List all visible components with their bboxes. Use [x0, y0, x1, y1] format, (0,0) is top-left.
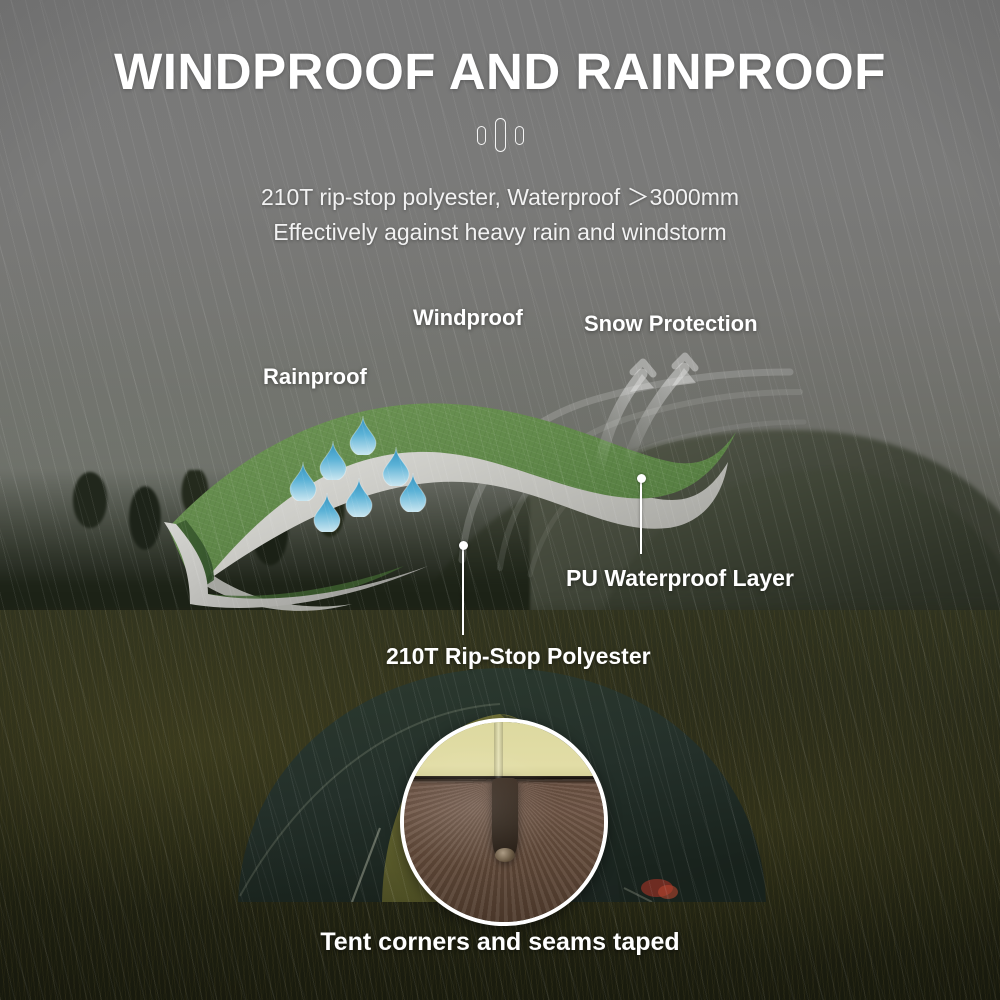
divider-bar-center — [495, 118, 506, 152]
label-snow-protection: Snow Protection — [584, 311, 758, 337]
product-feature-graphic: WINDPROOF AND RAINPROOF 210T rip-stop po… — [0, 0, 1000, 1000]
callout-dot — [637, 474, 646, 483]
water-droplet-icon — [348, 415, 378, 455]
label-rainproof: Rainproof — [263, 364, 367, 390]
water-droplet-icon — [344, 477, 374, 517]
tent-corner-inset-photo — [400, 718, 608, 926]
page-title: WINDPROOF AND RAINPROOF — [0, 42, 1000, 101]
label-rip-stop-polyester: 210T Rip-Stop Polyester — [386, 643, 651, 670]
subtitle: 210T rip-stop polyester, Waterproof ＞300… — [0, 180, 1000, 250]
divider-bar-right — [515, 126, 524, 145]
fabric-top-sheet-weave — [168, 403, 736, 592]
three-bars-divider-icon — [0, 118, 1000, 152]
label-windproof: Windproof — [413, 305, 523, 331]
inset-sheen — [404, 722, 604, 922]
water-droplet-icon — [398, 472, 428, 512]
divider-bar-left — [477, 126, 486, 145]
subtitle-line-2: Effectively against heavy rain and winds… — [0, 215, 1000, 250]
inset-caption: Tent corners and seams taped — [0, 928, 1000, 957]
water-droplet-icon — [312, 492, 342, 532]
label-pu-waterproof-layer: PU Waterproof Layer — [566, 565, 794, 592]
callout-stem — [462, 545, 464, 635]
callout-dot — [459, 541, 468, 550]
water-droplet-icon — [318, 440, 348, 480]
subtitle-line-1: 210T rip-stop polyester, Waterproof ＞300… — [0, 180, 1000, 215]
callout-stem — [640, 478, 642, 554]
